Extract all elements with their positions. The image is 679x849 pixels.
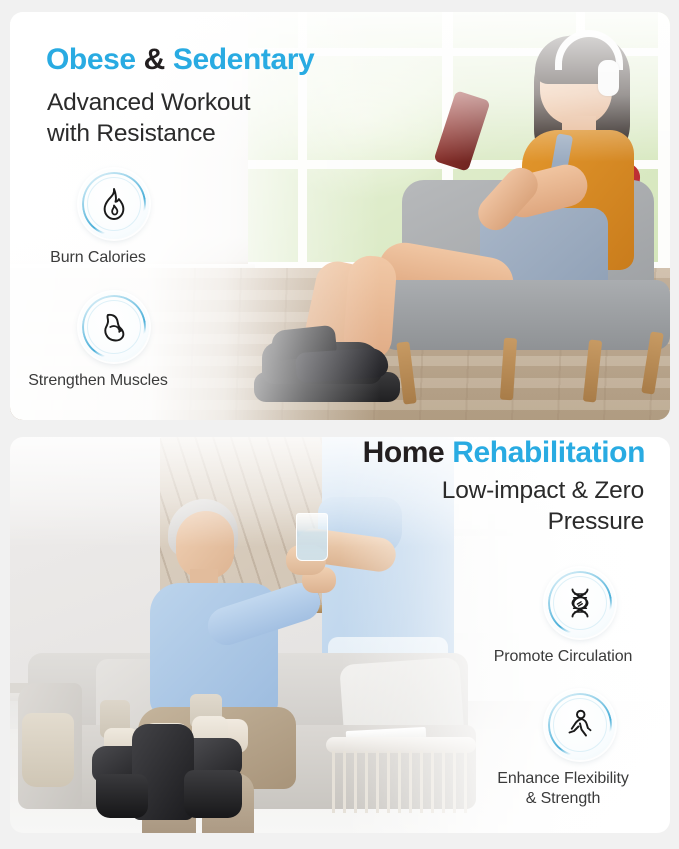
page-title-bottom: Home Rehabilitation <box>363 436 645 470</box>
badge-enhance-flexibility <box>545 690 615 760</box>
panel-obese-sedentary: Obese & Sedentary Advanced Workoutwith R… <box>10 12 670 420</box>
foot-exerciser-foot <box>96 774 148 818</box>
headline-part-home: Home <box>363 436 445 469</box>
subtitle-line-2: with Resistance <box>47 120 216 147</box>
bicep-icon <box>96 309 132 345</box>
feature-label: Burn Calories <box>10 248 193 268</box>
feature-label: Promote Circulation <box>465 647 661 667</box>
running-icon <box>562 707 598 743</box>
headline-ampersand: & <box>136 43 173 76</box>
product-feature-page: Obese & Sedentary Advanced Workoutwith R… <box>0 0 679 849</box>
headline-part-rehabilitation: Rehabilitation <box>452 436 645 469</box>
badge-strengthen-muscles <box>79 292 149 362</box>
subtitle-line-2: Pressure <box>548 508 644 535</box>
headline-part-obese: Obese <box>46 43 136 76</box>
feature-enhance-flexibility: Enhance Flexibility& Strength <box>516 690 644 808</box>
subtitle-line-1: Low-impact & Zero <box>442 477 644 504</box>
subtitle-top: Advanced Workoutwith Resistance <box>47 88 250 150</box>
feature-label-line-2: & Strength <box>526 790 601 807</box>
subtitle-bottom: Low-impact & ZeroPressure <box>442 476 644 538</box>
foot-exerciser-foot <box>184 770 242 818</box>
feature-label-line-1: Enhance Flexibility <box>497 770 629 787</box>
feature-promote-circulation: Promote Circulation <box>516 568 644 667</box>
badge-promote-circulation <box>545 568 615 638</box>
badge-burn-calories <box>79 169 149 239</box>
page-title-top: Obese & Sedentary <box>46 43 314 77</box>
throw-blanket <box>22 713 74 787</box>
subtitle-line-1: Advanced Workout <box>47 89 250 116</box>
feature-label: Enhance Flexibility& Strength <box>465 769 661 808</box>
feature-burn-calories: Burn Calories <box>51 169 177 268</box>
armchair-seat <box>382 280 670 350</box>
dna-icon <box>562 585 598 621</box>
flame-icon <box>96 186 132 222</box>
feature-strengthen-muscles: Strengthen Muscles <box>51 292 177 391</box>
feature-label: Strengthen Muscles <box>10 371 193 391</box>
headline-part-sedentary: Sedentary <box>173 43 314 76</box>
